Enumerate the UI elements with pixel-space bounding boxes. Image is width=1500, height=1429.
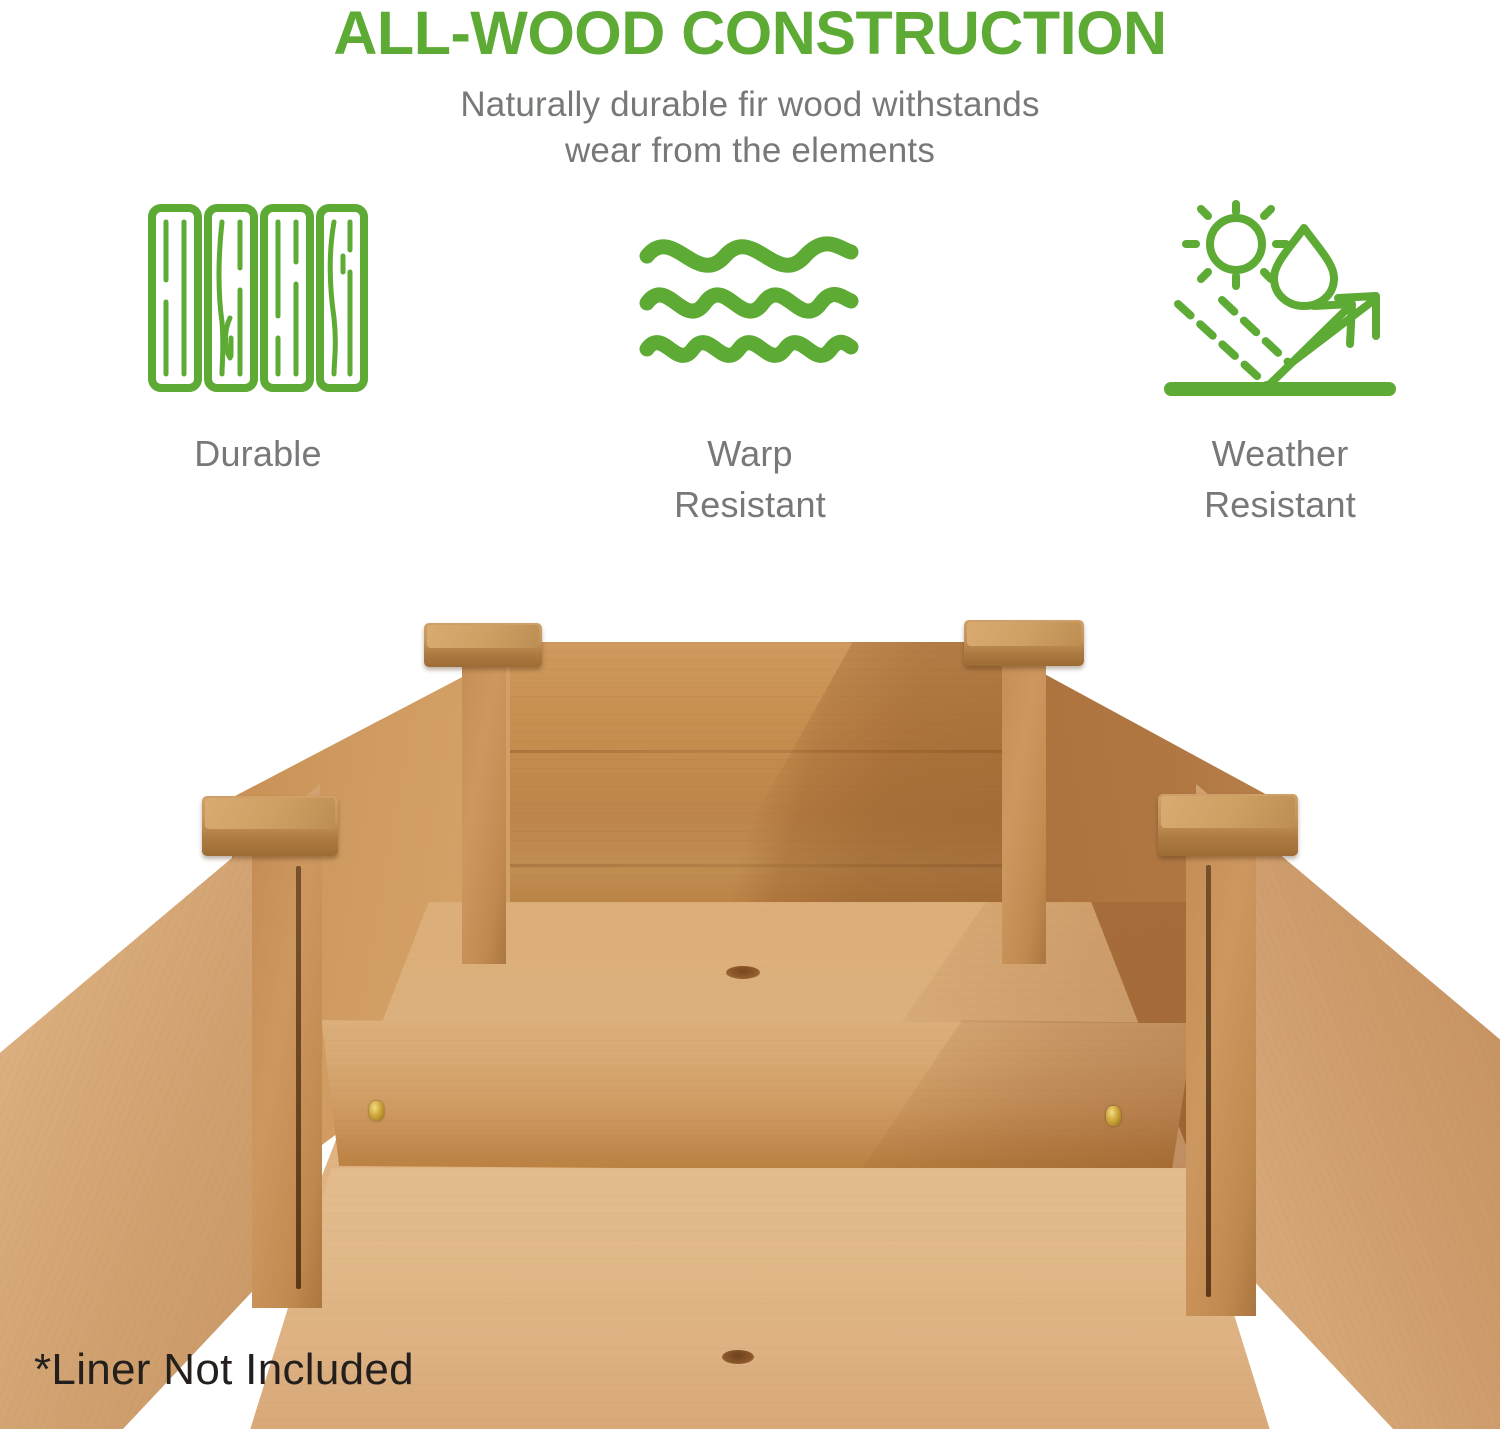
subtitle-line-1: Naturally durable fir wood withstands: [0, 82, 1500, 128]
header-block: ALL-WOOD CONSTRUCTION Naturally durable …: [0, 0, 1500, 173]
post-cap-top: [427, 625, 539, 648]
post-seam: [296, 866, 301, 1289]
post-cap-front-left: [202, 796, 338, 856]
feature-warp-label: Warp Resistant: [580, 428, 920, 530]
feature-warp-resistant: Warp Resistant: [580, 198, 920, 530]
floor-knot: [726, 966, 760, 979]
subtitle-line-2: wear from the elements: [0, 128, 1500, 174]
front-floor-knot: [722, 1350, 754, 1364]
disclaimer-text: *Liner Not Included: [34, 1348, 414, 1392]
post-cap-front-right: [1158, 794, 1298, 856]
wood-planks-icon: [144, 198, 372, 398]
corner-post-front-right: [1186, 836, 1256, 1316]
post-cap-top: [967, 622, 1081, 646]
post-cap-top: [205, 798, 335, 829]
feature-warp-label-line-1: Warp: [580, 428, 920, 479]
post-seam: [1206, 865, 1211, 1297]
brass-screw-right: [1106, 1106, 1121, 1126]
feature-durable: Durable: [88, 198, 428, 479]
sun-water-repel-icon: [1160, 196, 1400, 401]
feature-durable-icon-wrap: [88, 198, 428, 398]
feature-warp-icon-wrap: [580, 198, 920, 398]
post-cap-back-right: [964, 620, 1084, 666]
post-body: [462, 634, 506, 964]
surface-bar: [1164, 382, 1396, 396]
brass-screw-left: [369, 1101, 384, 1121]
corner-post-back-left: [462, 634, 506, 964]
corner-post-front-left: [252, 838, 322, 1308]
feature-durable-label: Durable: [88, 428, 428, 479]
post-cap-back-left: [424, 623, 542, 667]
post-body: [1002, 634, 1046, 964]
post-cap-top: [1161, 796, 1295, 828]
post-body: [252, 838, 322, 1308]
corner-post-back-right: [1002, 634, 1046, 964]
wavy-lines-icon: [635, 218, 865, 378]
feature-weather-icon-wrap: [1090, 198, 1470, 398]
feature-row: Durable Warp Resistant: [0, 198, 1500, 568]
feature-weather-resistant: Weather Resistant: [1090, 198, 1470, 530]
feature-weather-label: Weather Resistant: [1090, 428, 1470, 530]
feature-weather-label-line-1: Weather: [1090, 428, 1470, 479]
page-title: ALL-WOOD CONSTRUCTION: [0, 2, 1500, 64]
post-body: [1186, 836, 1256, 1316]
feature-weather-label-line-2: Resistant: [1090, 479, 1470, 530]
feature-warp-label-line-2: Resistant: [580, 479, 920, 530]
page-subtitle: Naturally durable fir wood withstands we…: [0, 82, 1500, 173]
product-photo: [0, 568, 1500, 1429]
